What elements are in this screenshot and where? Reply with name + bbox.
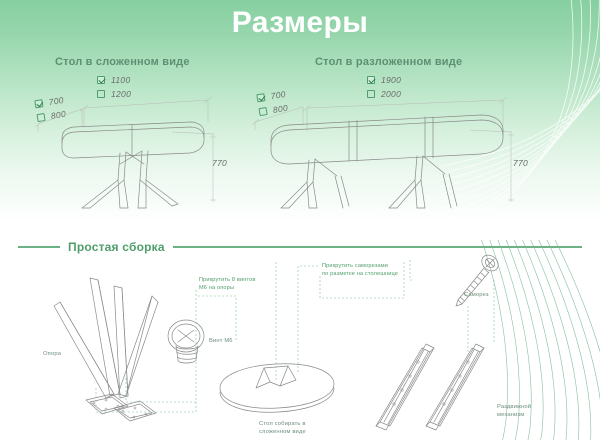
note-attach-screws: Прикрутить 8 винтов М6 на опоры	[199, 276, 256, 292]
assembly-section-header: Простая сборка	[0, 240, 600, 254]
divider-right	[173, 246, 582, 248]
page-title: Размеры	[0, 6, 600, 40]
part-label-vint: Винт М6	[209, 337, 233, 345]
section-heading-folded: Стол в сложенном виде	[55, 56, 190, 68]
screw-m6-drawing	[160, 316, 220, 376]
part-label-opora: Опора	[43, 350, 61, 358]
divider-left	[18, 246, 60, 248]
section-heading-unfolded: Стол в разложенном виде	[315, 56, 462, 68]
poster-page: Размеры Стол в сложенном виде 1100 1200 …	[0, 0, 600, 440]
assembly-heading: Простая сборка	[68, 240, 165, 254]
self-tapping-screw-drawing	[448, 252, 508, 314]
part-label-mechanism: Раздвижной механизм	[497, 403, 531, 420]
part-label-samorez: Саморез	[464, 291, 489, 299]
folded-table-drawing	[22, 82, 252, 212]
sliding-mechanism-drawing	[372, 340, 512, 438]
note-assemble-folded: Стол собирать в сложенном виде	[259, 420, 306, 437]
unfolded-table-drawing	[245, 82, 545, 212]
note-attach-self-tapping: Прикрутить саморезами по разметке на сто…	[322, 262, 398, 278]
assembled-table-drawing	[212, 358, 342, 428]
